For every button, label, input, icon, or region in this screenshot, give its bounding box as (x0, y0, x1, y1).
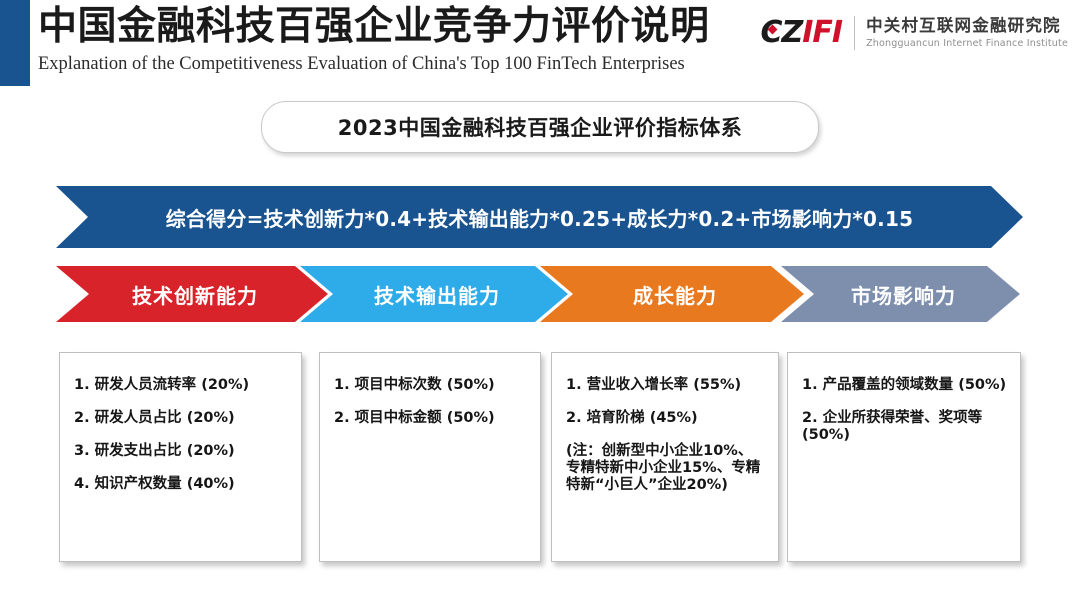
list-item: 1. 产品覆盖的领域数量 (50%) (802, 377, 1006, 394)
list-item: 3. 研发支出占比 (20%) (74, 443, 287, 460)
detail-box-market-influence: 1. 产品覆盖的领域数量 (50%) 2. 企业所获得荣誉、奖项等 (50%) (787, 352, 1021, 562)
list-item-note: (注：创新型中小企业10%、专精特新中小企业15%、专精特新“小巨人”企业20%… (566, 443, 764, 494)
detail-box-growth: 1. 营业收入增长率 (55%) 2. 培育阶梯 (45%) (注：创新型中小企… (551, 352, 779, 562)
title-block: 中国金融科技百强企业竞争力评价说明 Explanation of the Com… (38, 4, 758, 76)
list-item: 1. 项目中标次数 (50%) (334, 377, 526, 394)
institute-logo: CZ IFI 中关村互联网金融研究院 Zhongguancun Internet… (760, 10, 1068, 56)
page-subtitle: Explanation of the Competitiveness Evalu… (38, 52, 758, 76)
chevron-tab-growth[interactable]: 成长能力 (540, 266, 804, 322)
detail-box-tech-innovation: 1. 研发人员流转率 (20%) 2. 研发人员占比 (20%) 3. 研发支出… (59, 352, 302, 562)
list-item: 2. 项目中标金额 (50%) (334, 410, 526, 427)
chevron-label: 技术输出能力 (374, 280, 500, 309)
header-accent-bar (0, 0, 30, 86)
logo-mark-ifi: IFI (802, 18, 842, 48)
chevron-tab-market-influence[interactable]: 市场影响力 (781, 266, 1020, 322)
list-item: 2. 研发人员占比 (20%) (74, 410, 287, 427)
system-title-card: 2023中国金融科技百强企业评价指标体系 (261, 101, 819, 153)
logo-name-cn: 中关村互联网金融研究院 (866, 18, 1068, 35)
dimension-chevron-row: 技术创新能力 技术输出能力 成长能力 市场影响力 (0, 266, 1080, 322)
page-title: 中国金融科技百强企业竞争力评价说明 (38, 4, 758, 50)
chevron-label: 技术创新能力 (132, 280, 258, 309)
logo-text-block: 中关村互联网金融研究院 Zhongguancun Internet Financ… (866, 18, 1068, 48)
formula-banner: 综合得分=技术创新力*0.4+技术输出能力*0.25+成长力*0.2+市场影响力… (56, 186, 1023, 248)
list-item: 4. 知识产权数量 (40%) (74, 476, 287, 493)
chevron-tab-tech-output[interactable]: 技术输出能力 (300, 266, 568, 322)
logo-name-en: Zhongguancun Internet Finance Institute (866, 39, 1068, 49)
chevron-tab-tech-innovation[interactable]: 技术创新能力 (56, 266, 328, 322)
chevron-label: 市场影响力 (851, 280, 956, 309)
list-item: 2. 培育阶梯 (45%) (566, 410, 764, 427)
logo-mark-cz: CZ (760, 18, 802, 48)
list-item: 1. 营业收入增长率 (55%) (566, 377, 764, 394)
logo-divider (854, 16, 855, 50)
system-title-text: 2023中国金融科技百强企业评价指标体系 (338, 112, 742, 142)
detail-box-tech-output: 1. 项目中标次数 (50%) 2. 项目中标金额 (50%) (319, 352, 541, 562)
formula-text: 综合得分=技术创新力*0.4+技术输出能力*0.25+成长力*0.2+市场影响力… (166, 203, 913, 232)
czifi-logo-icon: CZ IFI (760, 18, 842, 48)
page-header: 中国金融科技百强企业竞争力评价说明 Explanation of the Com… (0, 0, 1080, 88)
list-item: 1. 研发人员流转率 (20%) (74, 377, 287, 394)
list-item: 2. 企业所获得荣誉、奖项等 (50%) (802, 410, 1006, 444)
chevron-label: 成长能力 (633, 280, 717, 309)
